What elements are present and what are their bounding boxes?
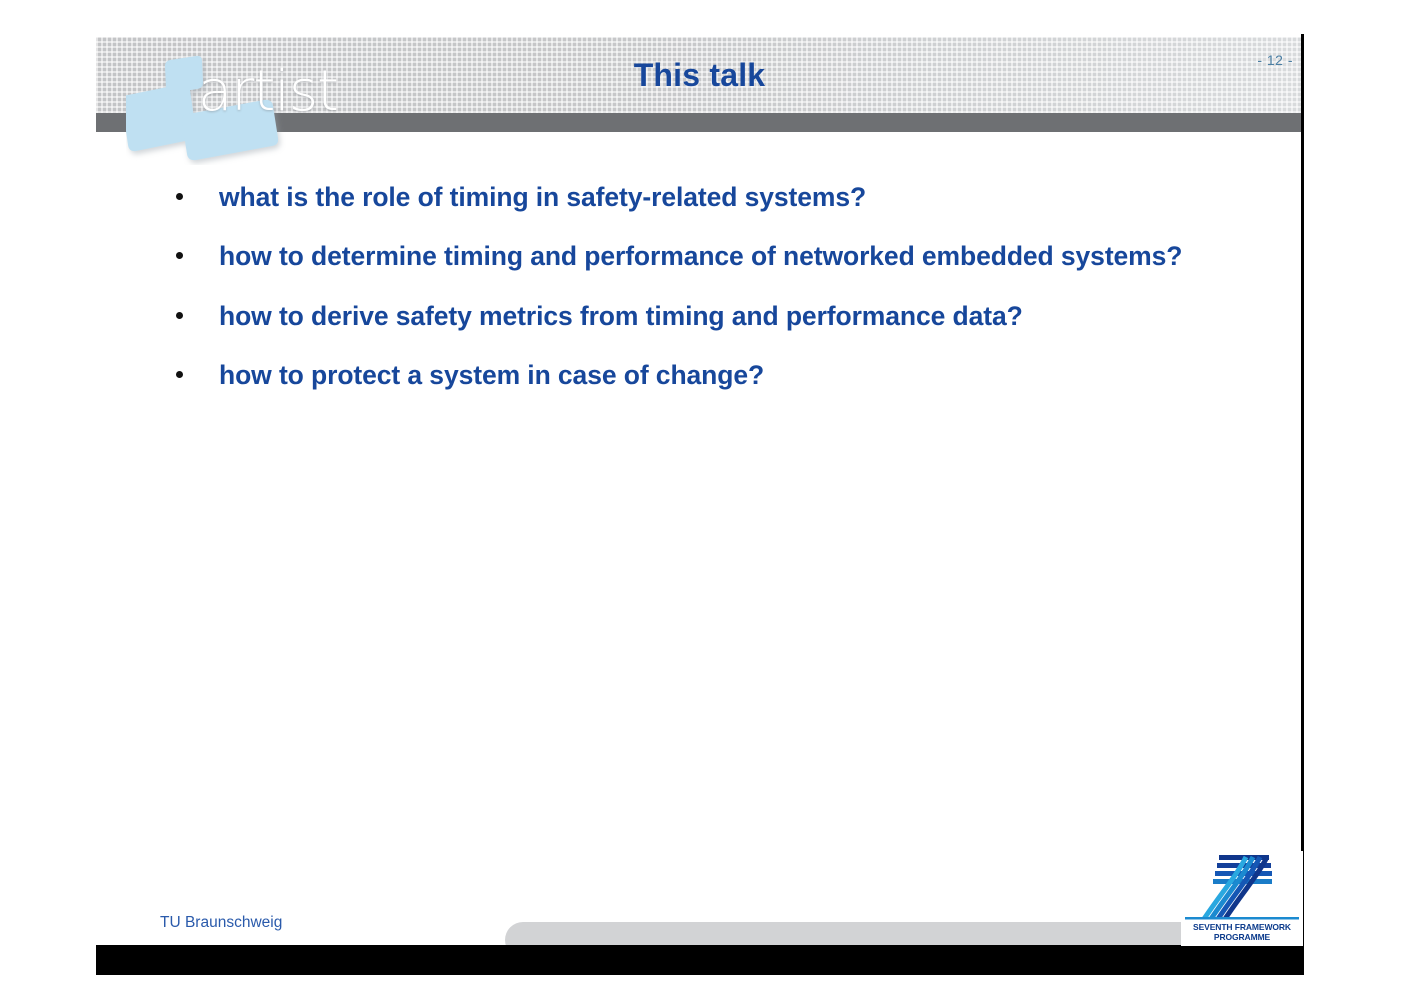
page-title: This talk — [96, 37, 1303, 113]
list-item: what is the role of timing in safety-rel… — [170, 178, 1230, 216]
fp7-caption-line2: PROGRAMME — [1181, 932, 1303, 942]
footer-affiliation: TU Braunschweig — [160, 914, 282, 932]
list-item-label: how to derive safety metrics from timing… — [219, 297, 1230, 335]
list-item-label: how to determine timing and performance … — [219, 237, 1230, 275]
bullet-dot-icon — [170, 356, 219, 378]
list-item-label: how to protect a system in case of chang… — [219, 356, 1230, 394]
footer-black-bar — [96, 945, 1304, 975]
list-item: how to derive safety metrics from timing… — [170, 297, 1230, 335]
bullet-list: what is the role of timing in safety-rel… — [170, 178, 1230, 416]
fp7-seven-icon — [1181, 851, 1303, 931]
list-item-label: what is the role of timing in safety-rel… — [219, 178, 1230, 216]
page-number: - 12 - — [1257, 52, 1293, 68]
fp7-caption-line1: SEVENTH FRAMEWORK — [1181, 922, 1303, 932]
bullet-dot-icon — [170, 297, 219, 319]
header-accent-strip — [96, 113, 1303, 132]
fp7-logo: SEVENTH FRAMEWORK PROGRAMME — [1181, 851, 1303, 946]
list-item: how to protect a system in case of chang… — [170, 356, 1230, 394]
slide-right-border — [1301, 34, 1304, 946]
bullet-dot-icon — [170, 178, 219, 200]
slide-canvas: This talk - 12 - artist what is the role… — [0, 0, 1403, 992]
bullet-dot-icon — [170, 237, 219, 259]
fp7-caption: SEVENTH FRAMEWORK PROGRAMME — [1181, 922, 1303, 942]
list-item: how to determine timing and performance … — [170, 237, 1230, 275]
slide-header: This talk - 12 - — [96, 37, 1303, 113]
